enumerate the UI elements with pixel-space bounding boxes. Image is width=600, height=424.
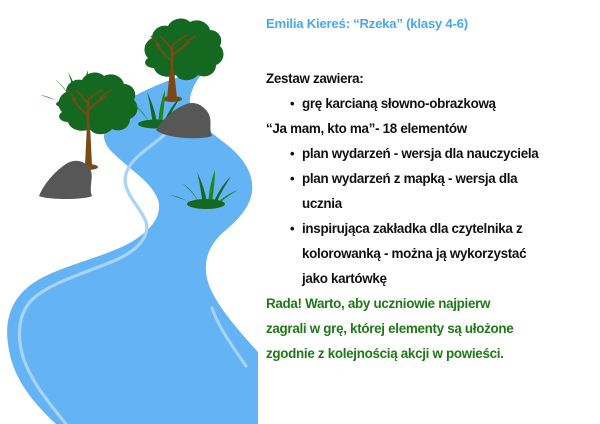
text-pane: Emilia Kiereś: “Rzeka” (klasy 4-6) Zesta… (258, 0, 600, 424)
list-item: • plan wydarzeń - wersja dla nauczyciela (266, 141, 600, 166)
note-line: Rada! Warto, aby uczniowie najpierw (266, 291, 586, 316)
items-list-top: • grę karcianą słowno-obrazkową (266, 91, 600, 116)
rock-lower-icon (39, 161, 92, 199)
list-item-label-cont: ucznia (302, 196, 342, 211)
river-shape (7, 68, 258, 424)
rock-lower-shape (39, 161, 92, 199)
list-item-label: grę karcianą słowno-obrazkową (302, 96, 496, 111)
river-illustration (0, 0, 258, 424)
bullet-icon: • (290, 166, 294, 191)
list-item: • grę karcianą słowno-obrazkową (266, 91, 600, 116)
list-item-label: plan wydarzeń - wersja dla nauczyciela (302, 146, 538, 161)
list-item-label: inspirująca zakładka dla czytelnika z (302, 221, 522, 236)
slide-canvas: Emilia Kiereś: “Rzeka” (klasy 4-6) Zesta… (0, 0, 600, 424)
tree-upper-foliage (145, 19, 224, 81)
bullet-icon: • (290, 91, 294, 116)
river-water (7, 68, 258, 424)
list-item-label-cont: jako kartówkę (302, 271, 387, 286)
page-title: Emilia Kiereś: “Rzeka” (klasy 4-6) (266, 16, 596, 32)
tree-lower-foliage (59, 73, 138, 135)
lead-text: Zestaw zawiera: (266, 66, 600, 91)
note-text: Rada! Warto, aby uczniowie najpierw zagr… (266, 291, 586, 366)
note-line: zgodnie z kolejnością akcji w powieści. (266, 341, 586, 366)
list-item: • inspirująca zakładka dla czytelnika z … (266, 216, 600, 291)
list-item-label: plan wydarzeń z mapką - wersja dla (302, 171, 517, 186)
subtitle-line: “Ja mam, kto ma”- 18 elementów (266, 116, 600, 141)
note-line: zagrali w grę, której elementy są ułożon… (266, 316, 586, 341)
items-list-bottom: • plan wydarzeń - wersja dla nauczyciela… (266, 141, 600, 291)
list-item-label-cont: kolorowanką - można ją wykorzystać (302, 246, 526, 261)
list-item: • plan wydarzeń z mapką - wersja dla ucz… (266, 166, 600, 216)
bullet-icon: • (290, 216, 294, 241)
bullet-icon: • (290, 141, 294, 166)
content-block: Zestaw zawiera: • grę karcianą słowno-ob… (266, 66, 600, 366)
